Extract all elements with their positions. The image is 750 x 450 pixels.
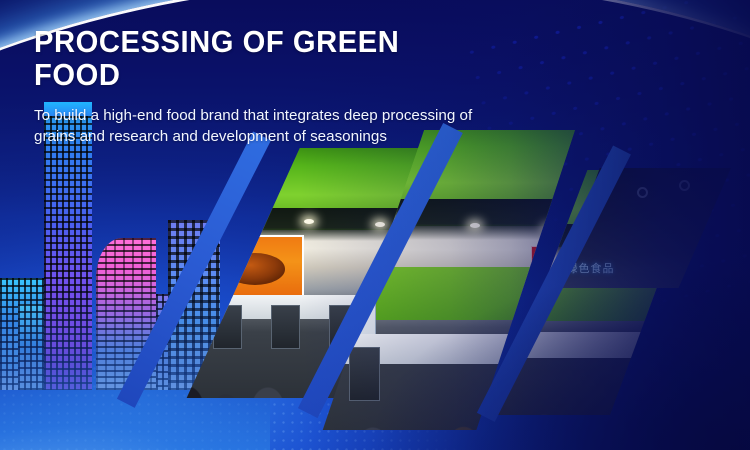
green-food-banner: CENTI [0,0,750,450]
banner-subtext: To build a high-end food brand that inte… [34,105,486,148]
banner-text-block: PROCESSING OF GREEN FOOD To build a high… [34,26,504,148]
banner-headline: PROCESSING OF GREEN FOOD [34,26,476,92]
